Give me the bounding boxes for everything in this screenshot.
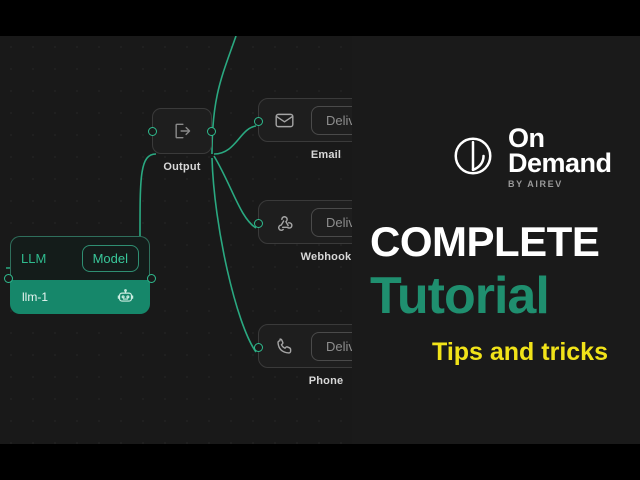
branding-panel: On Demand BY AIREV COMPLETE Tutorial Tip… <box>352 36 640 444</box>
video-thumbnail: Output Delivery Email <box>0 0 640 480</box>
port-phone-left[interactable] <box>254 343 263 352</box>
title-primary: COMPLETE <box>370 218 599 266</box>
node-llm-footer[interactable]: llm-1 <box>10 280 150 314</box>
port-llm-right[interactable] <box>147 274 156 283</box>
letterbox-top <box>0 0 640 36</box>
letterbox-bottom <box>0 444 640 480</box>
brand-logo-text: On Demand BY AIREV <box>508 126 612 190</box>
edge-output-to-webhook <box>214 156 256 228</box>
envelope-icon <box>271 107 297 133</box>
edge-output-to-phone <box>212 158 256 352</box>
node-llm-model-pill[interactable]: Model <box>82 245 139 272</box>
node-llm-title: LLM <box>21 251 46 266</box>
port-output-left[interactable] <box>148 127 157 136</box>
brand-logo: On Demand BY AIREV <box>450 126 612 190</box>
webhook-icon <box>271 209 297 235</box>
port-llm-left[interactable] <box>4 274 13 283</box>
node-llm-header[interactable]: LLM Model <box>10 236 150 280</box>
node-output-body[interactable] <box>152 108 212 154</box>
title-secondary: Tutorial <box>370 266 549 326</box>
port-email-left[interactable] <box>254 117 263 126</box>
arrow-right-from-bracket-icon <box>169 118 195 144</box>
phone-handset-icon <box>271 333 297 359</box>
edge-output-to-email <box>214 126 256 154</box>
robot-icon <box>112 284 138 310</box>
node-output[interactable]: Output <box>152 108 212 173</box>
node-llm[interactable]: LLM Model llm-1 <box>10 236 150 314</box>
node-output-label: Output <box>152 161 212 173</box>
brand-logo-subtitle: BY AIREV <box>508 179 563 189</box>
tagline: Tips and tricks <box>432 338 608 367</box>
port-webhook-left[interactable] <box>254 219 263 228</box>
brand-logo-line2: Demand <box>508 151 612 176</box>
edge-output-top <box>212 36 236 154</box>
port-output-right[interactable] <box>207 127 216 136</box>
node-llm-instance-name: llm-1 <box>22 290 48 304</box>
on-demand-circle-logo-icon <box>450 133 496 184</box>
